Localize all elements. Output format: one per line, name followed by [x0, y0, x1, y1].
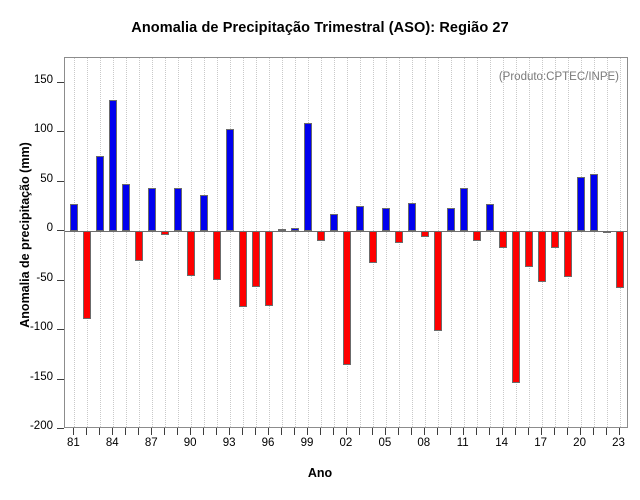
page-title: Anomalia de Precipitação Trimestral (ASO…	[0, 20, 640, 36]
y-tick-mark	[57, 428, 64, 429]
x-tick-mark	[125, 428, 126, 435]
bar-21	[590, 174, 598, 231]
x-tick-mark	[151, 428, 152, 435]
chart-figure: Anomalia de Precipitação Trimestral (ASO…	[0, 0, 640, 500]
x-tick-label: 87	[136, 437, 166, 449]
gridline-vertical	[178, 58, 179, 427]
gridline-vertical	[464, 58, 465, 427]
bar-04	[369, 231, 377, 263]
x-tick-mark	[203, 428, 204, 435]
x-tick-mark	[346, 428, 347, 435]
bar-17	[538, 231, 546, 281]
bar-89	[174, 188, 182, 232]
bar-09	[434, 231, 442, 331]
y-tick-mark	[57, 379, 64, 380]
x-tick-mark	[177, 428, 178, 435]
gridline-vertical	[165, 58, 166, 427]
bar-92	[213, 231, 221, 279]
gridline-vertical	[204, 58, 205, 427]
bar-83	[96, 156, 104, 231]
y-tick-label: -200	[0, 420, 53, 432]
x-tick-mark	[164, 428, 165, 435]
x-tick-mark	[320, 428, 321, 435]
gridline-vertical	[295, 58, 296, 427]
gridline-vertical	[451, 58, 452, 427]
gridline-vertical	[425, 58, 426, 427]
x-tick-mark	[619, 428, 620, 435]
bar-93	[226, 129, 234, 231]
x-tick-mark	[502, 428, 503, 435]
gridline-vertical	[334, 58, 335, 427]
x-tick-label: 05	[370, 437, 400, 449]
gridline-vertical	[581, 58, 582, 427]
x-tick-label: 20	[565, 437, 595, 449]
x-tick-label: 81	[58, 437, 88, 449]
y-tick-label: -150	[0, 371, 53, 383]
y-tick-mark	[57, 82, 64, 83]
x-tick-mark	[567, 428, 568, 435]
x-tick-mark	[463, 428, 464, 435]
gridline-vertical	[282, 58, 283, 427]
bar-10	[447, 208, 455, 231]
x-tick-mark	[359, 428, 360, 435]
bar-16	[525, 231, 533, 267]
bar-91	[200, 195, 208, 232]
x-tick-mark	[216, 428, 217, 435]
x-tick-mark	[476, 428, 477, 435]
bar-13	[486, 204, 494, 231]
bar-23	[616, 231, 624, 287]
x-tick-mark	[73, 428, 74, 435]
x-tick-mark	[528, 428, 529, 435]
y-tick-mark	[57, 131, 64, 132]
x-tick-mark	[437, 428, 438, 435]
gridline-vertical	[607, 58, 608, 427]
x-tick-mark	[242, 428, 243, 435]
y-tick-mark	[57, 230, 64, 231]
y-tick-label: -100	[0, 321, 53, 333]
x-tick-label: 14	[487, 437, 517, 449]
x-tick-mark	[541, 428, 542, 435]
x-tick-mark	[190, 428, 191, 435]
bar-14	[499, 231, 507, 248]
x-tick-mark	[450, 428, 451, 435]
x-tick-label: 84	[97, 437, 127, 449]
x-tick-mark	[489, 428, 490, 435]
x-tick-mark	[424, 428, 425, 435]
x-tick-mark	[411, 428, 412, 435]
x-tick-mark	[385, 428, 386, 435]
gridline-vertical	[477, 58, 478, 427]
bar-20	[577, 177, 585, 231]
y-tick-mark	[57, 280, 64, 281]
x-tick-label: 02	[331, 437, 361, 449]
bar-03	[356, 206, 364, 231]
gridline-vertical	[321, 58, 322, 427]
bar-96	[265, 231, 273, 306]
bar-06	[395, 231, 403, 243]
bar-07	[408, 203, 416, 231]
bar-01	[330, 214, 338, 231]
x-tick-mark	[554, 428, 555, 435]
bar-08	[421, 231, 429, 237]
gridline-vertical	[126, 58, 127, 427]
x-tick-mark	[229, 428, 230, 435]
bar-88	[161, 231, 169, 235]
x-tick-label: 93	[214, 437, 244, 449]
bar-15	[512, 231, 520, 383]
x-tick-mark	[398, 428, 399, 435]
x-tick-mark	[294, 428, 295, 435]
x-tick-label: 99	[292, 437, 322, 449]
x-tick-label: 96	[253, 437, 283, 449]
bar-82	[83, 231, 91, 319]
y-tick-mark	[57, 181, 64, 182]
bar-97	[278, 229, 286, 231]
y-tick-label: 50	[0, 173, 53, 185]
bar-99	[304, 123, 312, 231]
y-axis-label: Anomalia de precipitação (mm)	[18, 65, 32, 405]
gridline-vertical	[74, 58, 75, 427]
x-tick-mark	[333, 428, 334, 435]
gridline-vertical	[412, 58, 413, 427]
bar-18	[551, 231, 559, 248]
gridline-vertical	[230, 58, 231, 427]
bar-90	[187, 231, 195, 276]
bar-87	[148, 188, 156, 232]
x-tick-mark	[138, 428, 139, 435]
x-tick-mark	[86, 428, 87, 435]
bar-19	[564, 231, 572, 277]
y-tick-label: 100	[0, 123, 53, 135]
gridline-vertical	[308, 58, 309, 427]
x-tick-mark	[255, 428, 256, 435]
x-tick-mark	[372, 428, 373, 435]
y-tick-label: 150	[0, 74, 53, 86]
x-tick-mark	[593, 428, 594, 435]
gridline-vertical	[152, 58, 153, 427]
bar-84	[109, 100, 117, 232]
x-tick-mark	[112, 428, 113, 435]
gridline-vertical	[594, 58, 595, 427]
x-tick-mark	[580, 428, 581, 435]
bar-11	[460, 188, 468, 232]
gridline-vertical	[100, 58, 101, 427]
x-tick-label: 17	[526, 437, 556, 449]
producer-annotation: (Produto:CPTEC/INPE)	[499, 71, 619, 83]
bar-00	[317, 231, 325, 241]
bar-22	[603, 231, 611, 233]
bar-95	[252, 231, 260, 286]
gridline-vertical	[386, 58, 387, 427]
gridline-vertical	[360, 58, 361, 427]
x-tick-mark	[606, 428, 607, 435]
bar-05	[382, 208, 390, 231]
bar-94	[239, 231, 247, 307]
bar-81	[70, 204, 78, 231]
gridline-vertical	[490, 58, 491, 427]
bar-12	[473, 231, 481, 241]
x-tick-label: 90	[175, 437, 205, 449]
x-tick-mark	[281, 428, 282, 435]
x-tick-mark	[307, 428, 308, 435]
x-tick-mark	[268, 428, 269, 435]
x-axis-label: Ano	[0, 466, 640, 480]
x-tick-mark	[515, 428, 516, 435]
x-tick-label: 11	[448, 437, 478, 449]
y-tick-label: 0	[0, 222, 53, 234]
x-tick-label: 23	[604, 437, 634, 449]
bar-98	[291, 228, 299, 231]
y-tick-label: -50	[0, 272, 53, 284]
y-tick-mark	[57, 329, 64, 330]
plot-area: (Produto:CPTEC/INPE)	[64, 57, 628, 428]
x-tick-label: 08	[409, 437, 439, 449]
x-tick-mark	[99, 428, 100, 435]
bar-85	[122, 184, 130, 231]
bar-86	[135, 231, 143, 261]
bar-02	[343, 231, 351, 365]
